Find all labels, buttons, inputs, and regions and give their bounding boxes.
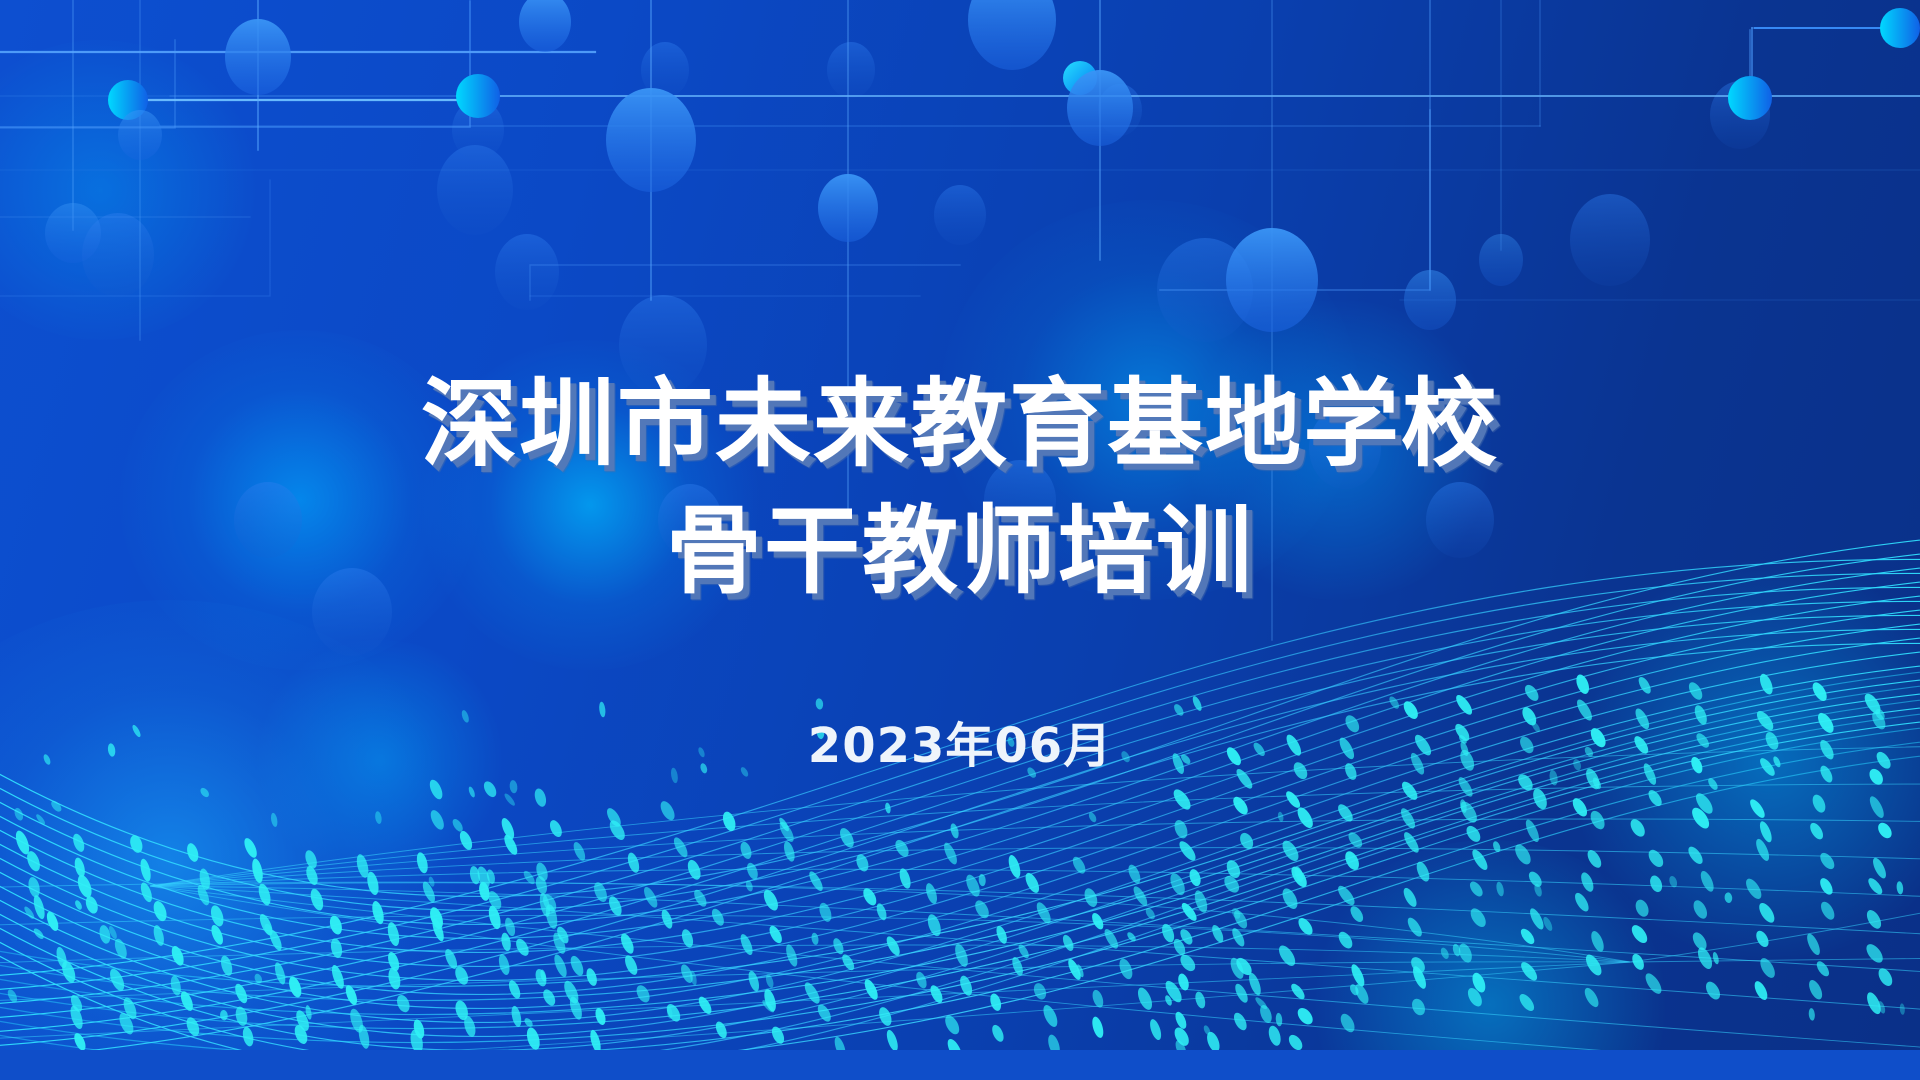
- slide-date: 2023年06月: [808, 706, 1112, 776]
- page-title-line-1: 深圳市未来教育基地学校: [421, 366, 1499, 483]
- page-title-line-2: 骨干教师培训: [421, 493, 1499, 610]
- slide-content: 深圳市未来教育基地学校 骨干教师培训 2023年06月: [0, 0, 1920, 1080]
- title-slide: 深圳市未来教育基地学校 骨干教师培训 2023年06月: [0, 0, 1920, 1080]
- title-block: 深圳市未来教育基地学校 骨干教师培训: [421, 366, 1499, 610]
